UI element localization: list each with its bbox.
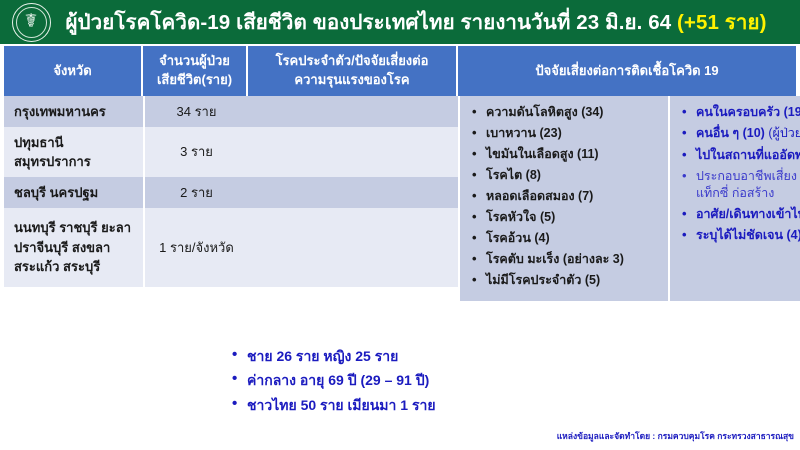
list-item: อาศัย/เดินทางเข้าไปในพื้นที่ระบาด (10)	[682, 206, 800, 223]
comorbidity-list: ความดันโลหิตสูง (34) เบาหวาน (23) ไขมันใ…	[472, 104, 660, 289]
death-count-cell: 3 ราย	[143, 127, 248, 177]
summary-section: ชาย 26 ราย หญิง 25 ราย ค่ากลาง อายุ 69 ป…	[232, 348, 652, 421]
source-credit: แหล่งข้อมูลและจัดทำโดย : กรมควบคุมโรค กร…	[557, 429, 794, 443]
province-cell: นนทบุรี ราชบุรี ยะลา ปราจีนบุรี สงขลา สร…	[4, 208, 143, 287]
risk-factor-list: คนในครอบครัว (19) (พ่อ สามี ภรรยา ลูก หล…	[682, 104, 800, 244]
deaths-table: จังหวัด จำนวนผู้ป่วย เสียชีวิต(ราย) โรคป…	[4, 46, 796, 301]
list-item: โรคไต (8)	[472, 167, 660, 184]
list-item: ชาวไทย 50 ราย เมียนมา 1 ราย	[232, 397, 652, 414]
table-row: ชลบุรี นครปฐม 2 ราย	[4, 177, 458, 208]
column-header-province: จังหวัด	[4, 46, 143, 96]
column-header-risk-factors: ปัจจัยเสี่ยงต่อการติดเชื้อโควิด 19	[458, 46, 796, 96]
caduceus-glyph: ☤	[25, 12, 38, 31]
list-item: หลอดเลือดสมอง (7)	[472, 188, 660, 205]
new-deaths-badge: (+51 ราย)	[677, 11, 767, 34]
table-body: กรุงเทพมหานคร 34 ราย ปทุมธานี สมุทรปรากา…	[4, 96, 796, 301]
page-header: ☤ ผู้ป่วยโรคโควิด-19 เสียชีวิต ของประเทศ…	[0, 0, 800, 44]
thai-moph-caduceus-emblem-icon: ☤	[12, 3, 51, 42]
list-item: ประกอบอาชีพเสี่ยง (6) ค้าขาย ขับจักรยานย…	[682, 168, 800, 202]
risk-factor-cell: คนในครอบครัว (19) (พ่อ สามี ภรรยา ลูก หล…	[668, 96, 800, 301]
list-item: คนอื่น ๆ (10) (ผู้ป่วยที่ รพ. ผู้ดูแล เพ…	[682, 125, 800, 142]
death-count-cell: 1 ราย/จังหวัด	[143, 208, 248, 287]
table-header-row: จังหวัด จำนวนผู้ป่วย เสียชีวิต(ราย) โรคป…	[4, 46, 796, 96]
column-header-comorbidity: โรคประจำตัว/ปัจจัยเสี่ยงต่อ ความรุนแรงขอ…	[248, 46, 458, 96]
province-cell: ชลบุรี นครปฐม	[4, 177, 143, 208]
death-count-cell: 34 ราย	[143, 96, 248, 127]
comorbidity-cell: ความดันโลหิตสูง (34) เบาหวาน (23) ไขมันใ…	[458, 96, 668, 301]
list-item: ค่ากลาง อายุ 69 ปี (29 – 91 ปี)	[232, 372, 652, 389]
list-item: ไขมันในเลือดสูง (11)	[472, 146, 660, 163]
list-item: โรคหัวใจ (5)	[472, 209, 660, 226]
page-title: ผู้ป่วยโรคโควิด-19 เสียชีวิต ของประเทศไท…	[62, 6, 800, 39]
death-count-cell: 2 ราย	[143, 177, 248, 208]
list-item: ความดันโลหิตสูง (34)	[472, 104, 660, 121]
list-item: ไม่มีโรคประจำตัว (5)	[472, 272, 660, 289]
list-item: โรคตับ มะเร็ง (อย่างละ 3)	[472, 251, 660, 268]
list-item: โรคอ้วน (4)	[472, 230, 660, 247]
table-row: ปทุมธานี สมุทรปราการ 3 ราย	[4, 127, 458, 177]
table-row: นนทบุรี ราชบุรี ยะลา ปราจีนบุรี สงขลา สร…	[4, 208, 458, 287]
list-item: ชาย 26 ราย หญิง 25 ราย	[232, 348, 652, 365]
summary-list: ชาย 26 ราย หญิง 25 ราย ค่ากลาง อายุ 69 ป…	[232, 348, 652, 413]
list-item: ระบุได้ไม่ชัดเจน (4)	[682, 227, 800, 244]
list-item: ไปในสถานที่แออัดพลุกพล่าน (2) (เรือนจำ ต…	[682, 147, 800, 164]
column-header-death-count: จำนวนผู้ป่วย เสียชีวิต(ราย)	[143, 46, 248, 96]
logo-wrap: ☤	[0, 0, 62, 44]
province-cell: ปทุมธานี สมุทรปราการ	[4, 127, 143, 177]
table-row: กรุงเทพมหานคร 34 ราย	[4, 96, 458, 127]
province-cell: กรุงเทพมหานคร	[4, 96, 143, 127]
page-title-main: ผู้ป่วยโรคโควิด-19 เสียชีวิต ของประเทศไท…	[65, 11, 677, 34]
province-count-columns: กรุงเทพมหานคร 34 ราย ปทุมธานี สมุทรปรากา…	[4, 96, 458, 301]
list-item: คนในครอบครัว (19) (พ่อ สามี ภรรยา ลูก หล…	[682, 104, 800, 121]
list-item: เบาหวาน (23)	[472, 125, 660, 142]
